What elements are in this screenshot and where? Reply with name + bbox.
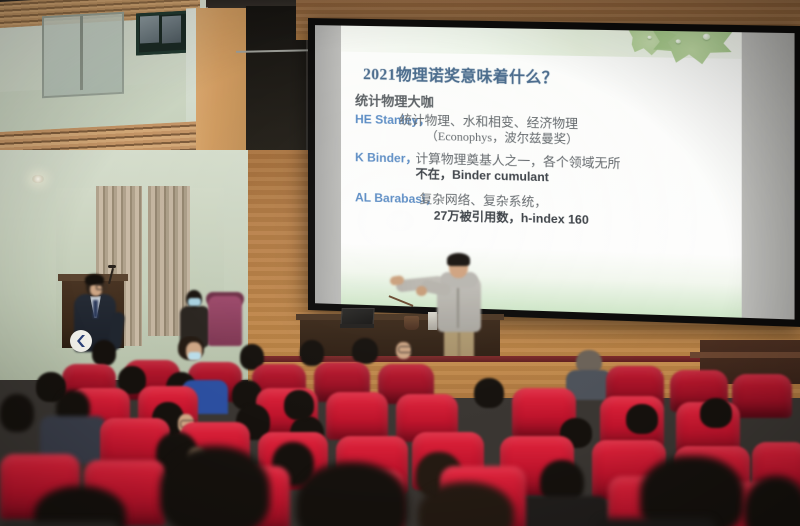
seat: [732, 374, 792, 418]
projection-screen: 2021物理诺奖意味着什么？ 统计物理大咖 HE Stanley， 统计物理、水…: [308, 18, 800, 327]
tan-pillar: [196, 8, 248, 154]
laptop-base: [340, 324, 374, 328]
seat: [326, 392, 388, 440]
entry-3-line2: 27万被引用数，h-index 160: [434, 206, 589, 228]
foreground-head: [640, 456, 744, 526]
screen-margin-right: [742, 32, 795, 319]
lecture-hall-photo: 2021物理诺奖意味着什么？ 统计物理大咖 HE Stanley， 统计物理、水…: [0, 0, 800, 526]
water-bottle: [428, 312, 437, 330]
foreground-body: [0, 522, 120, 526]
presentation-slide: 2021物理诺奖意味着什么？ 统计物理大咖 HE Stanley， 统计物理、水…: [341, 26, 742, 318]
audience-head: [474, 378, 504, 408]
audience-head: [284, 390, 314, 420]
foreground-head: [160, 446, 270, 526]
entry-2-line2: 不在，Binder cumulant: [416, 165, 549, 186]
cup: [404, 316, 419, 330]
entry-2-name: K Binder，: [355, 148, 418, 167]
presenter-right-hand: [416, 286, 427, 296]
slide-title: 2021物理诺奖意味着什么？: [363, 62, 558, 88]
booth-glass-left: [140, 15, 159, 43]
audience-head: [626, 404, 658, 434]
audience-area: [0, 336, 800, 526]
slide-text-block: 2021物理诺奖意味着什么？ 统计物理大咖 HE Stanley， 统计物理、水…: [341, 26, 742, 318]
presenter-hair: [447, 253, 470, 266]
audience-head: [352, 338, 378, 364]
ceiling-downlight: [32, 175, 44, 183]
audience-head: [92, 340, 116, 366]
seated-person-face-mask: [188, 298, 201, 306]
screen-surface: 2021物理诺奖意味着什么？ 统计物理大咖 HE Stanley， 统计物理、水…: [315, 25, 795, 319]
audience-glasses-icon: [398, 346, 413, 353]
podium-speaker-tie: [93, 300, 98, 318]
audience-face-mask: [188, 352, 201, 360]
screen-margin-left: [315, 25, 341, 304]
microphone-head-icon: [108, 265, 116, 268]
audience-head: [700, 398, 732, 428]
entry-1-line2: （Econophys，波尔兹曼奖）: [426, 127, 579, 148]
podium-speaker-glasses-icon: [96, 284, 107, 290]
audience-head: [300, 340, 324, 366]
foreground-body: [596, 518, 716, 526]
glass-mullion: [80, 16, 83, 90]
booth-glass-right: [162, 15, 181, 43]
slide-subtitle: 统计物理大咖: [355, 90, 434, 111]
audience-body: [516, 496, 608, 526]
balcony-glass-railing: [42, 12, 124, 99]
audience-head: [0, 394, 34, 432]
